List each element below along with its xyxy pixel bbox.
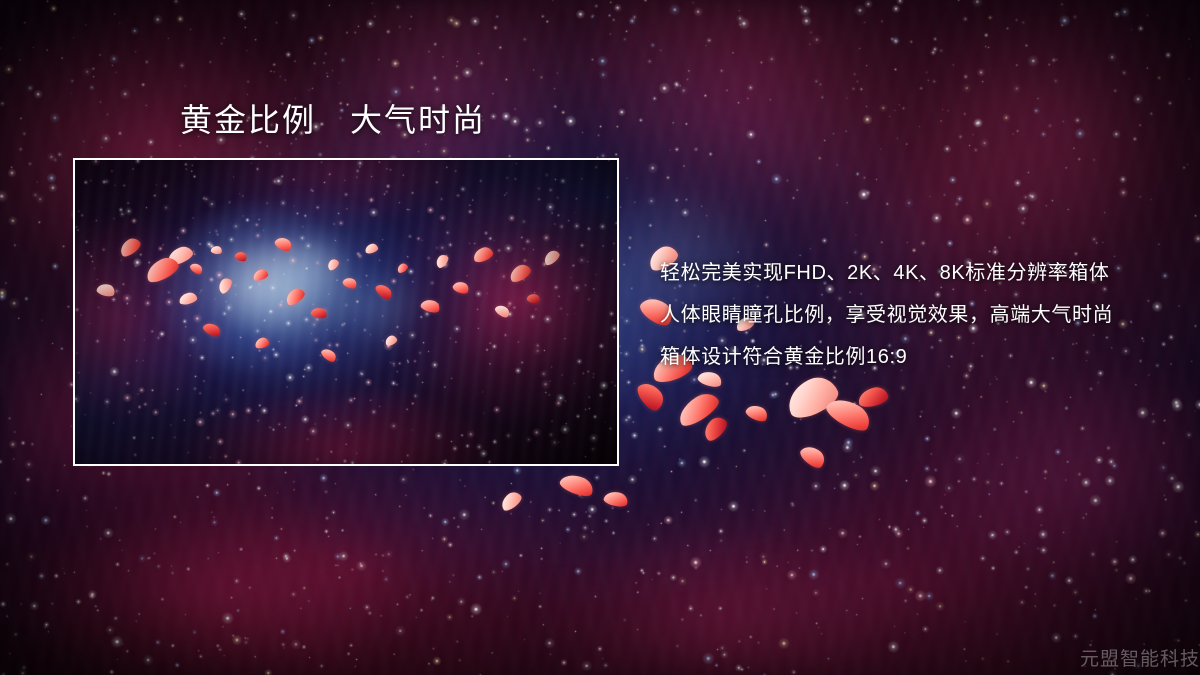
frame-vignette [75, 160, 617, 464]
body-line-1: 轻松完美实现FHD、2K、4K、8K标准分辨率箱体 [660, 252, 1160, 294]
flower-petal [744, 402, 770, 424]
flower-petal [823, 392, 875, 436]
flower-petal [674, 388, 723, 430]
flower-petal [603, 489, 630, 508]
flower-petal [700, 413, 731, 443]
flower-petal [856, 385, 889, 409]
slide-canvas: 黄金比例 大气时尚 轻松完美实现FHD、2K、4K、8K标准分辨率箱体 人体眼睛… [0, 0, 1200, 675]
flower-petal [558, 470, 596, 499]
body-text-block: 轻松完美实现FHD、2K、4K、8K标准分辨率箱体 人体眼睛瞳孔比例，享受视觉效… [660, 252, 1160, 378]
body-line-3: 箱体设计符合黄金比例16:9 [660, 336, 1160, 378]
body-line-2: 人体眼睛瞳孔比例，享受视觉效果，高端大气时尚 [660, 294, 1160, 336]
watermark: 元盟智能科技 [1080, 648, 1200, 672]
flower-petal [781, 371, 842, 423]
galaxy-photo-inner [75, 160, 617, 464]
flower-petal [498, 489, 524, 513]
galaxy-photo-frame [73, 158, 619, 466]
flower-petal [634, 378, 668, 414]
flower-petal [798, 442, 829, 472]
page-title: 黄金比例 大气时尚 [180, 100, 486, 140]
